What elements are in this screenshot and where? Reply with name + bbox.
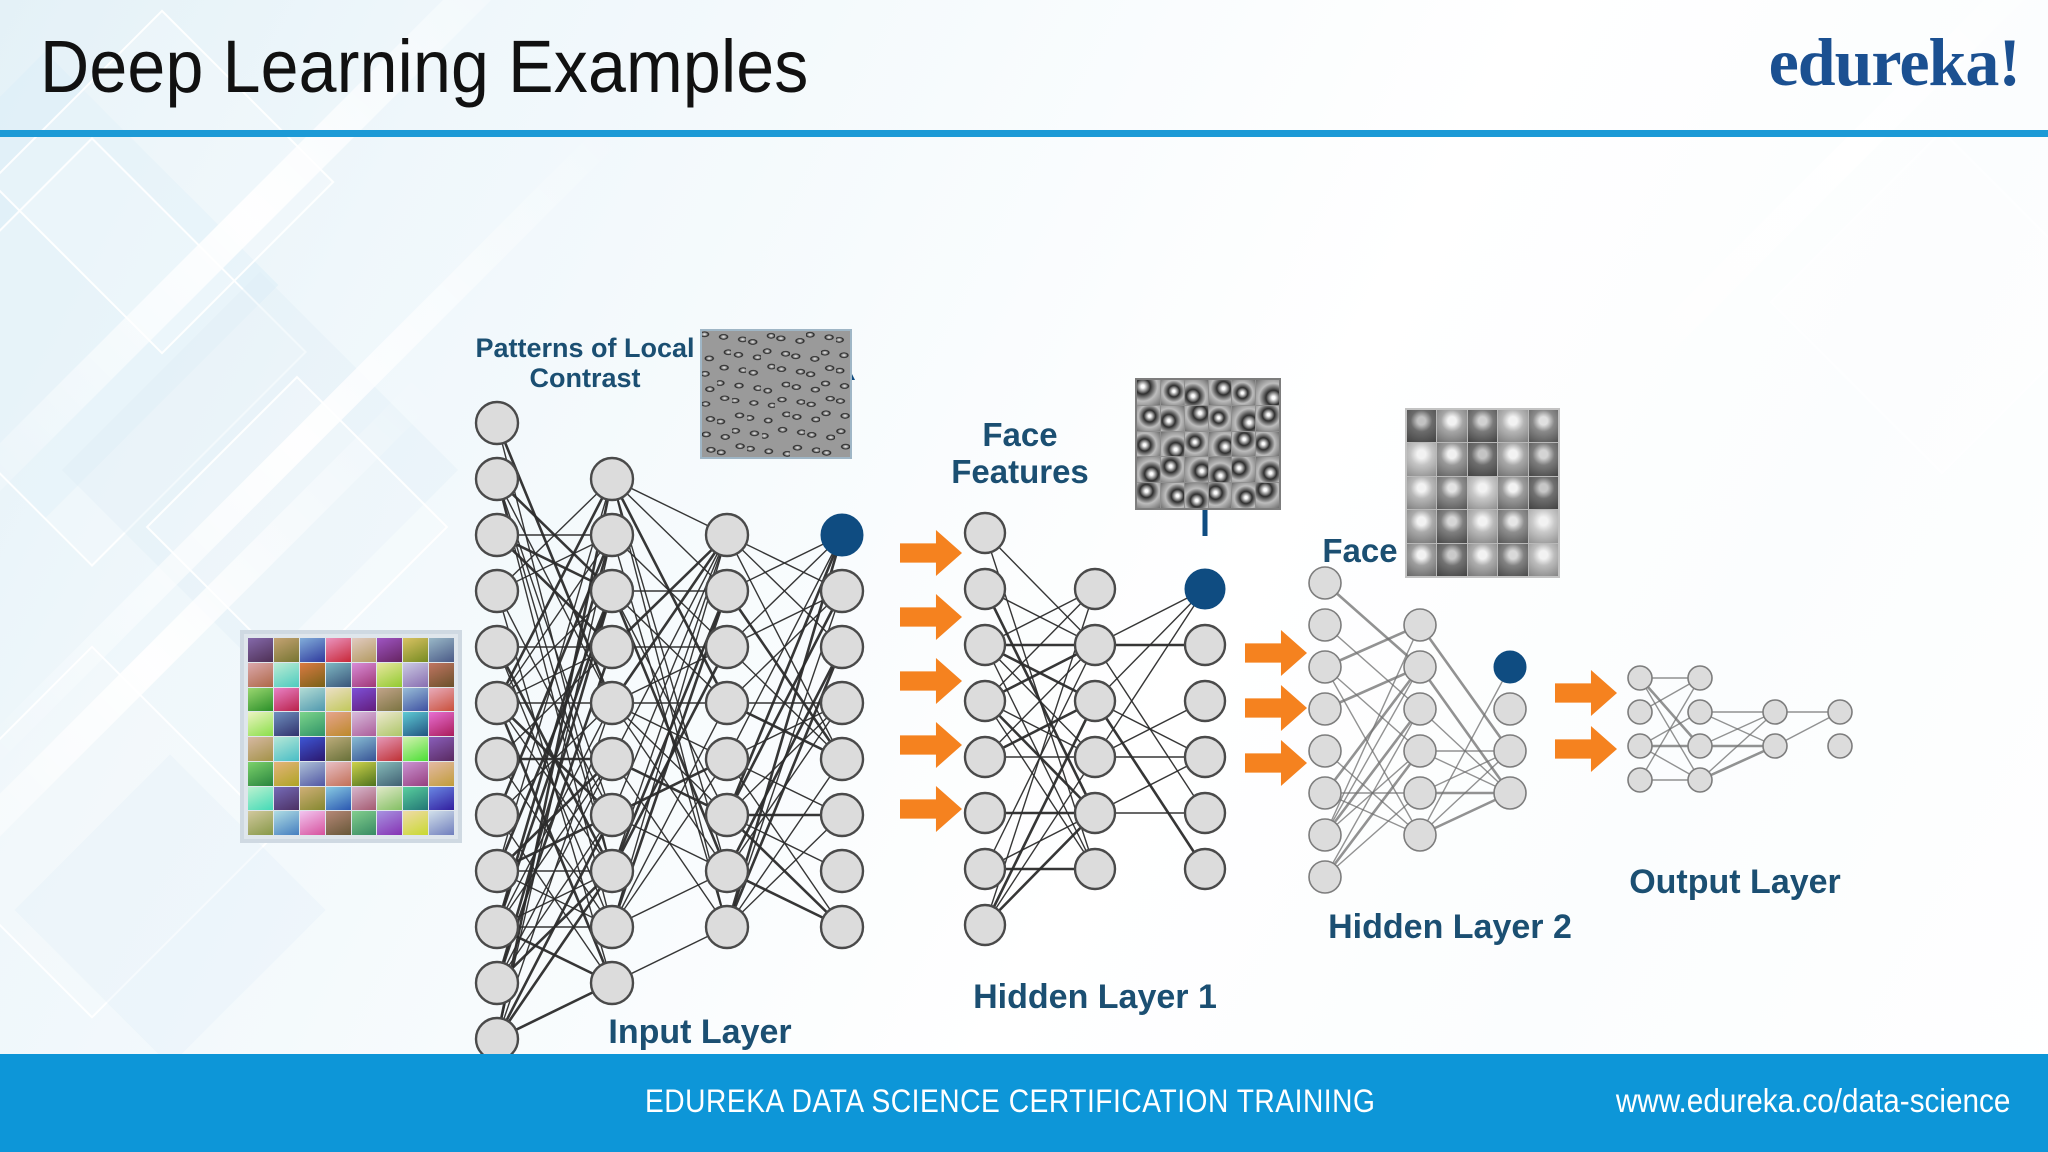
neuron <box>1309 567 1341 599</box>
image-cell <box>791 347 805 362</box>
image-cell <box>1256 483 1279 508</box>
image-cell <box>762 347 776 362</box>
neuron <box>965 513 1005 553</box>
neuron <box>1309 819 1341 851</box>
image-cell <box>717 347 731 362</box>
image-cell <box>274 712 299 736</box>
slide-footer: EDUREKA DATA SCIENCE CERTIFICATION TRAIN… <box>0 1054 2048 1152</box>
image-cell <box>429 663 454 687</box>
arrows-1-to-2-arrow <box>900 658 962 704</box>
image-cell <box>1468 477 1497 509</box>
image-cell <box>1137 483 1160 508</box>
neuron <box>1309 861 1341 893</box>
image-cell <box>1161 457 1184 482</box>
image-cell <box>747 426 761 441</box>
image-cell <box>806 395 820 410</box>
image-cell <box>377 811 402 835</box>
image-cell <box>1437 477 1466 509</box>
image-cell <box>1161 432 1184 457</box>
image-cell <box>1137 457 1160 482</box>
image-cell <box>377 638 402 662</box>
image-cell <box>821 395 835 410</box>
image-cell <box>821 426 835 441</box>
image-cell <box>717 426 731 441</box>
patterns-of-local-contrast-image <box>700 329 852 459</box>
highlighted-neuron <box>1494 651 1526 683</box>
arrows-2-to-3-arrow <box>1245 740 1307 786</box>
image-cell <box>274 811 299 835</box>
neuron <box>1075 625 1115 665</box>
image-cell <box>248 712 273 736</box>
neuron <box>1185 849 1225 889</box>
image-cell <box>1137 406 1160 431</box>
image-cell <box>248 688 273 712</box>
image-cell <box>732 426 746 441</box>
image-cell <box>702 410 716 425</box>
image-cell <box>300 811 325 835</box>
image-cell <box>702 363 716 378</box>
network-edge <box>1095 589 1205 757</box>
image-cell <box>776 363 790 378</box>
neuron <box>821 738 863 780</box>
neuron <box>476 794 518 836</box>
neuron <box>1185 737 1225 777</box>
image-cell <box>1498 443 1527 475</box>
neuron <box>1688 734 1712 758</box>
image-cell <box>747 363 761 378</box>
image-cell <box>762 395 776 410</box>
image-cell <box>1137 380 1160 405</box>
image-cell <box>1256 406 1279 431</box>
image-cell <box>1437 443 1466 475</box>
image-cell <box>821 442 835 457</box>
image-cell <box>248 663 273 687</box>
neuron <box>965 793 1005 833</box>
image-cell <box>806 331 820 346</box>
network-graph <box>0 133 2048 1054</box>
neuron <box>1628 700 1652 724</box>
neuron <box>1404 735 1436 767</box>
image-cell <box>732 410 746 425</box>
image-cell <box>403 737 428 761</box>
image-cell <box>776 395 790 410</box>
image-cell <box>836 331 850 346</box>
neuron <box>1309 651 1341 683</box>
image-cell <box>821 331 835 346</box>
image-cell <box>403 688 428 712</box>
image-cell <box>732 395 746 410</box>
image-cell <box>1529 477 1558 509</box>
image-cell <box>429 737 454 761</box>
neuron <box>706 570 748 612</box>
neuron <box>965 905 1005 945</box>
image-cell <box>1232 432 1255 457</box>
image-cell <box>1256 432 1279 457</box>
image-cell <box>762 363 776 378</box>
image-cell <box>1468 544 1497 576</box>
image-cell <box>732 363 746 378</box>
image-cell <box>1185 432 1208 457</box>
slide-header: Deep Learning Examples edureka! <box>0 0 2048 133</box>
image-cell <box>1437 410 1466 442</box>
neuron <box>1404 651 1436 683</box>
image-cell <box>352 811 377 835</box>
neuron <box>1688 666 1712 690</box>
image-cell <box>791 331 805 346</box>
image-cell <box>352 638 377 662</box>
neuron <box>1309 693 1341 725</box>
neuron <box>476 402 518 444</box>
neuron <box>821 682 863 724</box>
image-cell <box>352 737 377 761</box>
image-cell <box>326 737 351 761</box>
neuron <box>1185 625 1225 665</box>
image-cell <box>1256 380 1279 405</box>
image-cell <box>732 379 746 394</box>
network-edge <box>727 647 842 927</box>
image-cell <box>776 410 790 425</box>
image-cell <box>403 762 428 786</box>
neuron <box>1075 681 1115 721</box>
label-input-layer: Input Layer <box>580 1013 820 1051</box>
image-cell <box>806 426 820 441</box>
image-cell <box>702 426 716 441</box>
image-cell <box>836 426 850 441</box>
input-face-collage-image <box>240 630 462 843</box>
neuron <box>821 626 863 668</box>
neuron <box>591 794 633 836</box>
image-cell <box>326 688 351 712</box>
page-title: Deep Learning Examples <box>40 30 809 104</box>
neuron <box>1075 849 1115 889</box>
image-cell <box>747 410 761 425</box>
neuron <box>591 850 633 892</box>
image-cell <box>1529 443 1558 475</box>
image-cell <box>702 379 716 394</box>
image-cell <box>717 379 731 394</box>
image-cell <box>248 737 273 761</box>
image-cell <box>762 410 776 425</box>
image-cell <box>747 379 761 394</box>
network-edge <box>612 535 727 815</box>
neuron <box>1185 793 1225 833</box>
network-edges <box>497 423 1840 1039</box>
neuron <box>476 458 518 500</box>
image-cell <box>702 347 716 362</box>
image-cell <box>776 426 790 441</box>
footer-course-title: EDUREKA DATA SCIENCE CERTIFICATION TRAIN… <box>645 1083 1375 1120</box>
image-cell <box>274 663 299 687</box>
neuron <box>1075 569 1115 609</box>
image-cell <box>1529 410 1558 442</box>
image-cell <box>1209 432 1232 457</box>
image-cell <box>1185 406 1208 431</box>
image-cell <box>717 331 731 346</box>
neuron <box>1494 777 1526 809</box>
neuron <box>1309 735 1341 767</box>
image-cell <box>836 395 850 410</box>
label-hidden-layer-2: Hidden Layer 2 <box>1300 908 1600 946</box>
neuron <box>476 570 518 612</box>
neuron <box>821 570 863 612</box>
image-cell <box>791 395 805 410</box>
image-cell <box>248 811 273 835</box>
neuron <box>1075 793 1115 833</box>
image-cell <box>776 379 790 394</box>
network-edge <box>985 701 1095 869</box>
image-cell <box>326 762 351 786</box>
image-cell <box>806 379 820 394</box>
arrows-2-to-3-arrow <box>1245 630 1307 676</box>
image-cell <box>1437 510 1466 542</box>
image-cell <box>836 363 850 378</box>
image-cell <box>747 442 761 457</box>
image-cell <box>274 688 299 712</box>
neuron <box>1404 693 1436 725</box>
image-cell <box>717 442 731 457</box>
face-image <box>1405 408 1560 578</box>
image-cell <box>377 737 402 761</box>
image-cell <box>352 762 377 786</box>
image-cell <box>791 410 805 425</box>
image-cell <box>1185 483 1208 508</box>
neuron <box>476 906 518 948</box>
image-cell <box>377 688 402 712</box>
arrows-1-to-2-arrow <box>900 530 962 576</box>
image-cell <box>1529 544 1558 576</box>
highlighted-neuron <box>1185 569 1225 609</box>
neuron <box>1494 693 1526 725</box>
neuron <box>591 682 633 724</box>
image-cell <box>403 638 428 662</box>
image-cell <box>1437 544 1466 576</box>
image-cell <box>836 442 850 457</box>
image-cell <box>1161 483 1184 508</box>
image-cell <box>352 663 377 687</box>
image-cell <box>403 712 428 736</box>
image-cell <box>806 410 820 425</box>
image-cell <box>1256 457 1279 482</box>
image-cell <box>1498 544 1527 576</box>
arrows-3-to-4-arrow <box>1555 670 1617 716</box>
slide: Deep Learning Examples edureka! <box>0 0 2048 1152</box>
neuron <box>476 682 518 724</box>
image-cell <box>377 787 402 811</box>
image-cell <box>1209 380 1232 405</box>
neuron <box>965 625 1005 665</box>
image-cell <box>248 638 273 662</box>
highlighted-neuron <box>821 514 863 556</box>
arrows-3-to-4-arrow <box>1555 726 1617 772</box>
image-cell <box>717 395 731 410</box>
neuron <box>1404 777 1436 809</box>
image-cell <box>300 688 325 712</box>
image-cell <box>1209 457 1232 482</box>
image-cell <box>1161 406 1184 431</box>
image-cell <box>1232 483 1255 508</box>
image-cell <box>1498 410 1527 442</box>
neuron <box>1185 681 1225 721</box>
neuron <box>965 737 1005 777</box>
image-cell <box>1185 380 1208 405</box>
arrows-1-to-2-arrow <box>900 786 962 832</box>
neuron <box>1763 734 1787 758</box>
image-cell <box>1468 510 1497 542</box>
network-edge <box>985 757 1095 925</box>
image-cell <box>806 363 820 378</box>
neuron <box>1688 700 1712 724</box>
image-cell <box>747 331 761 346</box>
neuron <box>1309 609 1341 641</box>
image-cell <box>1407 477 1436 509</box>
image-cell <box>1407 443 1436 475</box>
image-cell <box>821 347 835 362</box>
neuron <box>821 850 863 892</box>
image-cell <box>836 410 850 425</box>
image-cell <box>806 347 820 362</box>
image-cell <box>762 379 776 394</box>
neuron <box>1628 666 1652 690</box>
image-cell <box>791 363 805 378</box>
neuron <box>591 738 633 780</box>
label-hidden-layer-1: Hidden Layer 1 <box>955 978 1235 1016</box>
neuron <box>591 514 633 556</box>
neuron <box>1494 735 1526 767</box>
image-cell <box>1232 457 1255 482</box>
image-cell <box>717 363 731 378</box>
image-cell <box>352 712 377 736</box>
neuron <box>1404 609 1436 641</box>
image-cell <box>836 347 850 362</box>
neuron <box>591 570 633 612</box>
image-cell <box>429 787 454 811</box>
label-patterns-of-local-contrast: Patterns of Local Contrast <box>470 333 700 393</box>
image-cell <box>791 442 805 457</box>
neuron <box>1828 734 1852 758</box>
image-cell <box>326 663 351 687</box>
image-cell <box>776 347 790 362</box>
face-features-image <box>1135 378 1281 510</box>
image-cell <box>702 395 716 410</box>
label-face: Face <box>1305 533 1415 570</box>
image-cell <box>1407 410 1436 442</box>
image-cell <box>1468 410 1497 442</box>
neuron <box>706 682 748 724</box>
image-cell <box>821 379 835 394</box>
label-face-features: Face Features <box>930 417 1110 491</box>
neural-network-diagram: Patterns of Local Contrast Face Features… <box>0 133 2048 1054</box>
neuron <box>476 962 518 1004</box>
image-cell <box>352 688 377 712</box>
image-cell <box>1468 443 1497 475</box>
image-cell <box>429 638 454 662</box>
neuron <box>706 906 748 948</box>
image-cell <box>248 787 273 811</box>
neuron <box>476 738 518 780</box>
image-cell <box>326 787 351 811</box>
neuron <box>591 626 633 668</box>
image-cell <box>747 395 761 410</box>
image-cell <box>300 638 325 662</box>
image-cell <box>300 737 325 761</box>
neuron <box>706 626 748 668</box>
image-cell <box>791 379 805 394</box>
neuron <box>965 569 1005 609</box>
neuron <box>1628 734 1652 758</box>
arrows-2-to-3-arrow <box>1245 685 1307 731</box>
image-cell <box>274 787 299 811</box>
neuron <box>1763 700 1787 724</box>
image-cell <box>821 410 835 425</box>
image-cell <box>403 663 428 687</box>
image-cell <box>1137 432 1160 457</box>
neuron <box>1688 768 1712 792</box>
image-cell <box>326 712 351 736</box>
image-cell <box>1209 406 1232 431</box>
image-cell <box>274 638 299 662</box>
neuron <box>965 849 1005 889</box>
edureka-logo: edureka! <box>1769 28 2020 96</box>
image-cell <box>821 363 835 378</box>
neuron <box>476 626 518 668</box>
footer-url[interactable]: www.edureka.co/data-science <box>1615 1082 2010 1120</box>
image-cell <box>717 410 731 425</box>
label-output-layer: Output Layer <box>1595 863 1875 901</box>
neuron <box>821 906 863 948</box>
image-cell <box>762 331 776 346</box>
image-cell <box>702 442 716 457</box>
image-cell <box>762 442 776 457</box>
neuron <box>1075 737 1115 777</box>
image-cell <box>1161 380 1184 405</box>
image-cell <box>300 787 325 811</box>
image-cell <box>1529 510 1558 542</box>
image-cell <box>377 762 402 786</box>
image-cell <box>429 762 454 786</box>
image-cell <box>791 426 805 441</box>
image-cell <box>702 331 716 346</box>
image-cell <box>1232 380 1255 405</box>
neuron <box>1309 777 1341 809</box>
image-cell <box>1232 406 1255 431</box>
image-cell <box>732 331 746 346</box>
image-cell <box>429 811 454 835</box>
neuron <box>706 514 748 556</box>
image-cell <box>300 712 325 736</box>
neuron <box>476 1018 518 1054</box>
neuron <box>1628 768 1652 792</box>
neuron <box>965 681 1005 721</box>
image-cell <box>747 347 761 362</box>
image-cell <box>403 787 428 811</box>
image-cell <box>762 426 776 441</box>
image-cell <box>326 638 351 662</box>
neuron <box>591 906 633 948</box>
neuron <box>476 850 518 892</box>
image-cell <box>1185 457 1208 482</box>
arrows-1-to-2-arrow <box>900 594 962 640</box>
neuron <box>706 794 748 836</box>
image-cell <box>300 762 325 786</box>
neuron <box>1828 700 1852 724</box>
neuron <box>821 794 863 836</box>
image-cell <box>377 712 402 736</box>
image-cell <box>776 331 790 346</box>
image-cell <box>1209 483 1232 508</box>
image-cell <box>429 712 454 736</box>
image-cell <box>806 442 820 457</box>
image-cell <box>274 762 299 786</box>
